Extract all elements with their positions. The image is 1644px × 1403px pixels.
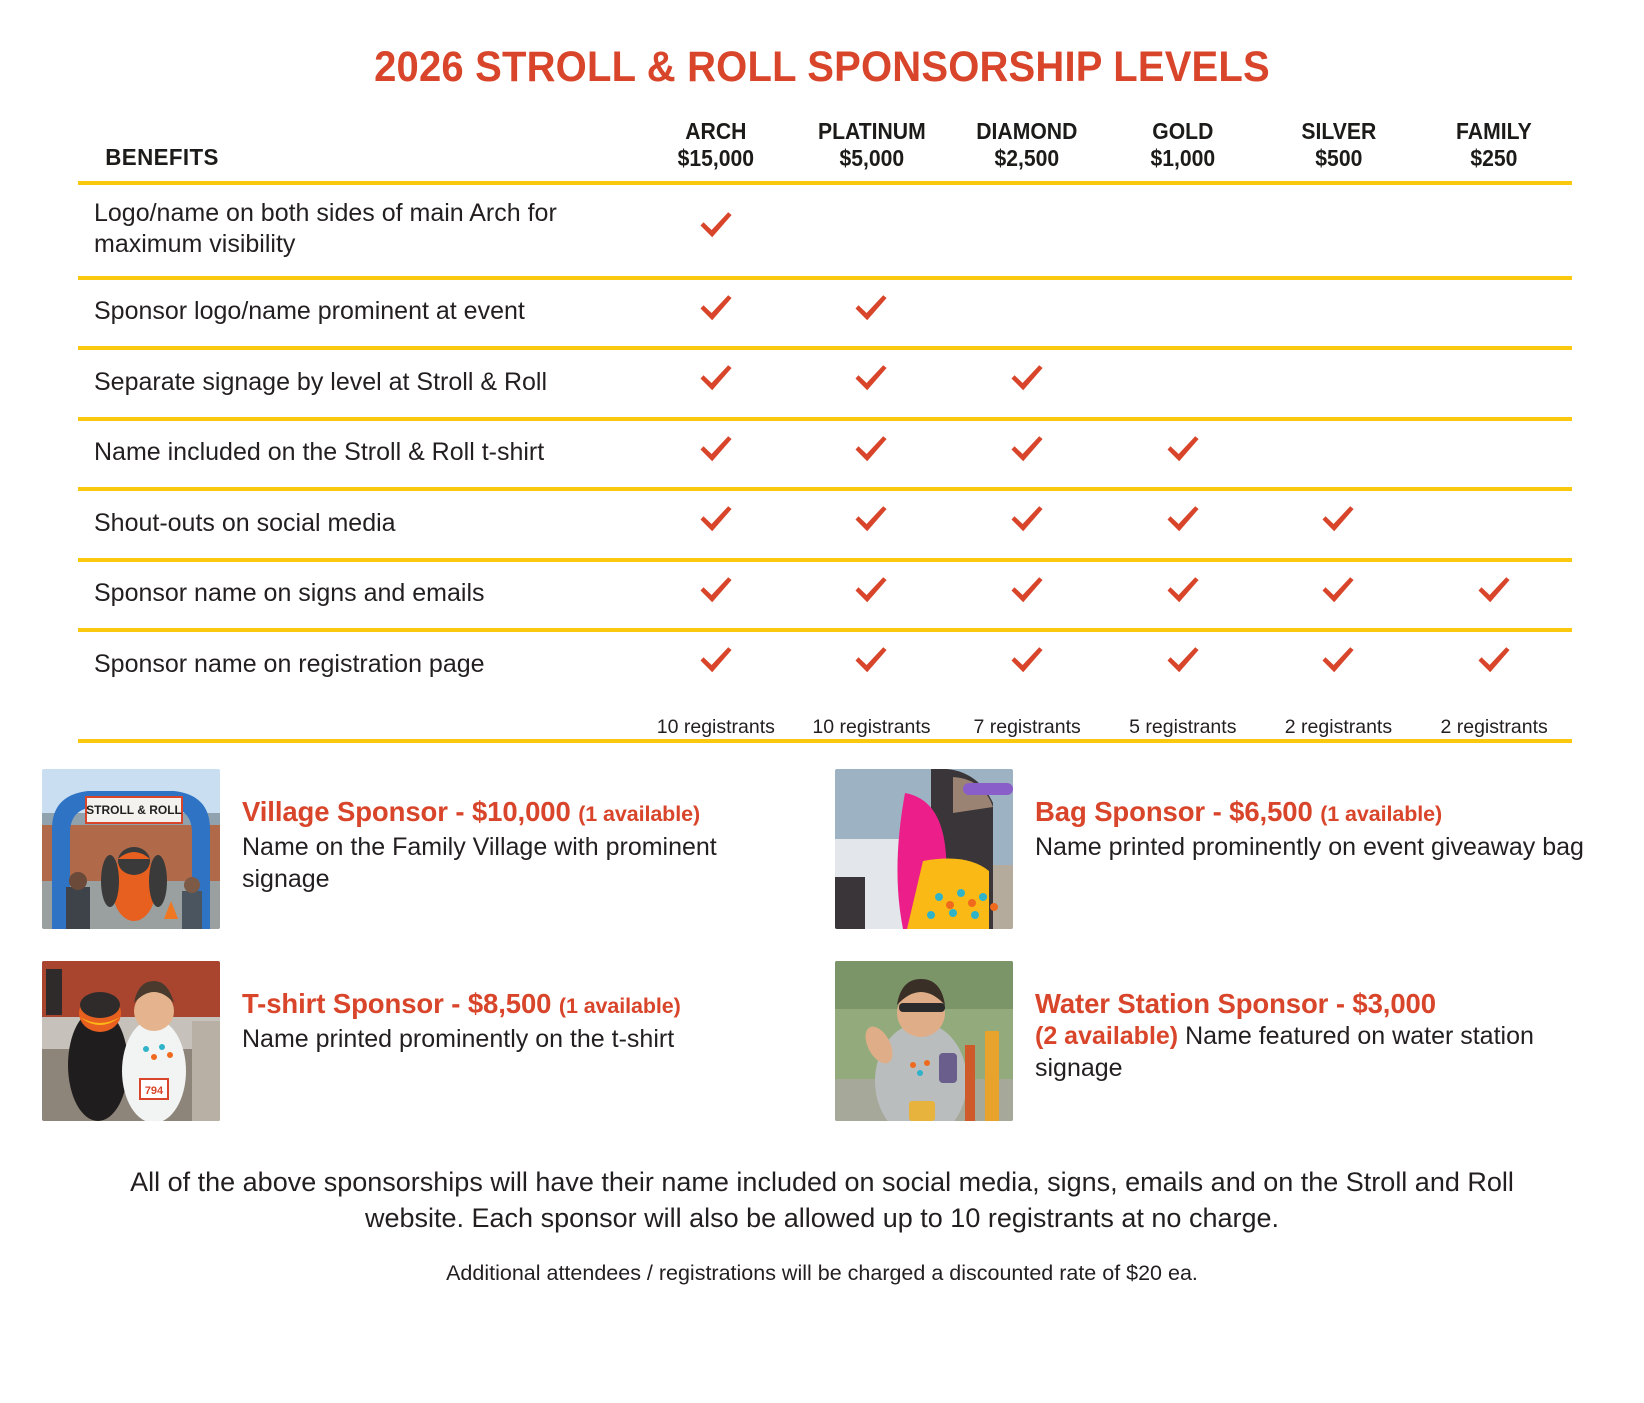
benefit-excluded-cell	[1416, 278, 1572, 349]
benefit-included-cell	[1261, 630, 1417, 699]
checkmark-icon	[1009, 434, 1045, 464]
checkmark-icon	[1165, 434, 1201, 464]
sponsor-card: Bag Sponsor - $6,500 (1 available)Name p…	[835, 769, 1600, 929]
checkmark-icon	[853, 575, 889, 605]
benefit-included-cell	[638, 278, 794, 349]
checkmark-icon	[1165, 575, 1201, 605]
sponsor-card-text: T-shirt Sponsor - $8,500 (1 available)Na…	[242, 961, 681, 1055]
arch-with-mascot-photo: STROLL & ROLL	[42, 769, 220, 929]
benefit-included-cell	[794, 278, 950, 349]
checkmark-icon	[1320, 645, 1356, 675]
table-row: Name included on the Stroll & Roll t-shi…	[78, 419, 1572, 490]
benefit-included-cell	[794, 630, 950, 699]
benefit-excluded-cell	[1261, 419, 1417, 490]
registrants-row: 10 registrants10 registrants7 registrant…	[78, 699, 1572, 742]
checkmark-icon	[853, 645, 889, 675]
benefit-included-cell	[794, 419, 950, 490]
benefit-excluded-cell	[1105, 278, 1261, 349]
benefit-label: Sponsor name on signs and emails	[78, 560, 638, 631]
level-column-header-diamond: DIAMOND$2,500	[956, 118, 1099, 183]
benefit-included-cell	[949, 560, 1105, 631]
sponsor-title: T-shirt Sponsor - $8,500	[242, 988, 551, 1019]
level-column-header-family: FAMILY$250	[1423, 118, 1566, 183]
checkmark-icon	[1165, 645, 1201, 675]
checkmark-icon	[1009, 575, 1045, 605]
checkmark-icon	[853, 293, 889, 323]
footer-fine-print: Additional attendees / registrations wil…	[0, 1261, 1644, 1286]
benefit-included-cell	[638, 489, 794, 560]
benefit-excluded-cell	[949, 278, 1105, 349]
level-column-header-silver: SILVER$500	[1267, 118, 1410, 183]
page-title: 2026 STROLL & ROLL SPONSORSHIP LEVELS	[58, 43, 1587, 92]
table-row: Sponsor name on registration page	[78, 630, 1572, 699]
benefit-excluded-cell	[1416, 489, 1572, 560]
footer-notes: All of the above sponsorships will have …	[0, 1165, 1644, 1286]
benefit-included-cell	[794, 489, 950, 560]
table-row: Separate signage by level at Stroll & Ro…	[78, 348, 1572, 419]
level-name: ARCH	[644, 118, 787, 145]
sponsor-card-text: Bag Sponsor - $6,500 (1 available)Name p…	[1035, 769, 1584, 863]
benefit-included-cell	[949, 630, 1105, 699]
sponsorship-levels-table-container: BENEFITS ARCH$15,000PLATINUM$5,000DIAMON…	[0, 118, 1644, 743]
benefit-included-cell	[1105, 419, 1261, 490]
level-name: DIAMOND	[956, 118, 1099, 145]
sponsor-card: STROLL & ROLLVillage Sponsor - $10,000 (…	[42, 769, 807, 929]
benefit-label: Separate signage by level at Stroll & Ro…	[78, 348, 638, 419]
benefit-excluded-cell	[1261, 183, 1417, 278]
sponsor-card-heading: Village Sponsor - $10,000 (1 available)	[242, 795, 807, 828]
checkmark-icon	[1320, 504, 1356, 534]
benefit-excluded-cell	[1416, 419, 1572, 490]
checkmark-icon	[1009, 363, 1045, 393]
sponsor-description-text: Name printed prominently on the t-shirt	[242, 1025, 674, 1053]
benefit-included-cell	[794, 560, 950, 631]
checkmark-icon	[1476, 645, 1512, 675]
svg-text:794: 794	[145, 1085, 164, 1097]
level-name: FAMILY	[1423, 118, 1566, 145]
level-name: PLATINUM	[800, 118, 943, 145]
sponsor-card-heading: Bag Sponsor - $6,500 (1 available)	[1035, 795, 1584, 828]
sponsor-availability: (1 available)	[578, 802, 700, 826]
level-price: $5,000	[800, 145, 943, 172]
benefit-included-cell	[949, 348, 1105, 419]
sponsor-availability: (2 available)	[1035, 1022, 1178, 1050]
runner-tshirt-mascot-photo: 794	[42, 961, 220, 1121]
sponsor-description-text: Name on the Family Village with prominen…	[242, 833, 717, 893]
sponsor-card-description: Name printed prominently on event giveaw…	[1035, 831, 1584, 863]
benefit-included-cell	[1416, 630, 1572, 699]
sponsor-card-text: Water Station Sponsor - $3,000(2 availab…	[1035, 961, 1600, 1084]
benefit-included-cell	[638, 630, 794, 699]
benefit-included-cell	[1261, 489, 1417, 560]
checkmark-icon	[698, 293, 734, 323]
table-row: Sponsor logo/name prominent at event	[78, 278, 1572, 349]
checkmark-icon	[698, 363, 734, 393]
benefit-included-cell	[638, 183, 794, 278]
benefit-excluded-cell	[1105, 183, 1261, 278]
sponsor-availability: (1 available)	[1320, 802, 1442, 826]
sponsor-title: Water Station Sponsor - $3,000	[1035, 988, 1436, 1019]
benefit-included-cell	[1261, 560, 1417, 631]
checkmark-icon	[698, 645, 734, 675]
level-column-header-platinum: PLATINUM$5,000	[800, 118, 943, 183]
benefit-label: Sponsor name on registration page	[78, 630, 638, 699]
checkmark-icon	[853, 504, 889, 534]
sponsor-title: Bag Sponsor - $6,500	[1035, 796, 1313, 827]
benefit-excluded-cell	[1416, 348, 1572, 419]
benefit-included-cell	[1416, 560, 1572, 631]
registrants-count: 2 registrants	[1261, 699, 1417, 742]
benefit-included-cell	[638, 560, 794, 631]
checkmark-icon	[1009, 504, 1045, 534]
table-row: Shout-outs on social media	[78, 489, 1572, 560]
sponsor-card-description: Name printed prominently on the t-shirt	[242, 1023, 681, 1055]
level-column-header-gold: GOLD$1,000	[1111, 118, 1254, 183]
checkmark-icon	[1009, 645, 1045, 675]
registrants-count: 7 registrants	[949, 699, 1105, 742]
level-column-header-arch: ARCH$15,000	[644, 118, 787, 183]
sponsor-card-text: Village Sponsor - $10,000 (1 available)N…	[242, 769, 807, 895]
table-row: Sponsor name on signs and emails	[78, 560, 1572, 631]
sponsor-card-description: (2 available) Name featured on water sta…	[1035, 1020, 1600, 1084]
level-name: SILVER	[1267, 118, 1410, 145]
level-price: $1,000	[1111, 145, 1254, 172]
benefit-included-cell	[1105, 489, 1261, 560]
checkmark-icon	[1476, 575, 1512, 605]
checkmark-icon	[698, 434, 734, 464]
registrants-count: 5 registrants	[1105, 699, 1261, 742]
checkmark-icon	[698, 504, 734, 534]
sponsorship-levels-table: BENEFITS ARCH$15,000PLATINUM$5,000DIAMON…	[78, 118, 1572, 743]
benefit-included-cell	[1105, 560, 1261, 631]
sponsor-availability: (1 available)	[559, 994, 681, 1018]
registrants-row-spacer	[78, 699, 638, 742]
benefit-included-cell	[949, 489, 1105, 560]
checkmark-icon	[853, 434, 889, 464]
sponsor-card: 794T-shirt Sponsor - $8,500 (1 available…	[42, 961, 807, 1121]
checkmark-icon	[853, 363, 889, 393]
sponsor-card-heading: T-shirt Sponsor - $8,500 (1 available)	[242, 987, 681, 1020]
benefit-included-cell	[949, 419, 1105, 490]
registrants-count: 10 registrants	[794, 699, 950, 742]
svg-text:STROLL & ROLL: STROLL & ROLL	[86, 803, 182, 817]
table-header: BENEFITS ARCH$15,000PLATINUM$5,000DIAMON…	[78, 118, 1572, 183]
level-price: $15,000	[644, 145, 787, 172]
sponsor-title: Village Sponsor - $10,000	[242, 796, 571, 827]
benefit-label: Name included on the Stroll & Roll t-shi…	[78, 419, 638, 490]
benefit-label: Shout-outs on social media	[78, 489, 638, 560]
sponsor-description-text: Name printed prominently on event giveaw…	[1035, 833, 1584, 861]
sponsor-card-heading: Water Station Sponsor - $3,000	[1035, 987, 1600, 1020]
benefit-included-cell	[638, 348, 794, 419]
benefit-excluded-cell	[1261, 348, 1417, 419]
benefits-column-header: BENEFITS	[92, 118, 624, 183]
registrants-count: 2 registrants	[1416, 699, 1572, 742]
level-price: $250	[1423, 145, 1566, 172]
benefit-excluded-cell	[949, 183, 1105, 278]
giveaway-bag-photo	[835, 769, 1013, 929]
special-sponsorships-list: STROLL & ROLLVillage Sponsor - $10,000 (…	[0, 769, 1644, 1121]
benefit-excluded-cell	[1261, 278, 1417, 349]
sponsor-card: Water Station Sponsor - $3,000(2 availab…	[835, 961, 1600, 1121]
checkmark-icon	[698, 575, 734, 605]
checkmark-icon	[698, 210, 734, 240]
level-name: GOLD	[1111, 118, 1254, 145]
level-price: $2,500	[956, 145, 1099, 172]
benefit-included-cell	[794, 348, 950, 419]
benefit-label: Sponsor logo/name prominent at event	[78, 278, 638, 349]
benefit-included-cell	[1105, 630, 1261, 699]
water-station-participant-photo	[835, 961, 1013, 1121]
benefit-excluded-cell	[1416, 183, 1572, 278]
benefit-label: Logo/name on both sides of main Arch for…	[78, 183, 638, 278]
benefit-included-cell	[638, 419, 794, 490]
table-row: Logo/name on both sides of main Arch for…	[78, 183, 1572, 278]
benefit-excluded-cell	[1105, 348, 1261, 419]
table-body: Logo/name on both sides of main Arch for…	[78, 183, 1572, 742]
benefit-excluded-cell	[794, 183, 950, 278]
level-price: $500	[1267, 145, 1410, 172]
footer-main-note: All of the above sponsorships will have …	[0, 1165, 1644, 1237]
sponsor-card-description: Name on the Family Village with prominen…	[242, 831, 807, 895]
checkmark-icon	[1320, 575, 1356, 605]
checkmark-icon	[1165, 504, 1201, 534]
registrants-count: 10 registrants	[638, 699, 794, 742]
